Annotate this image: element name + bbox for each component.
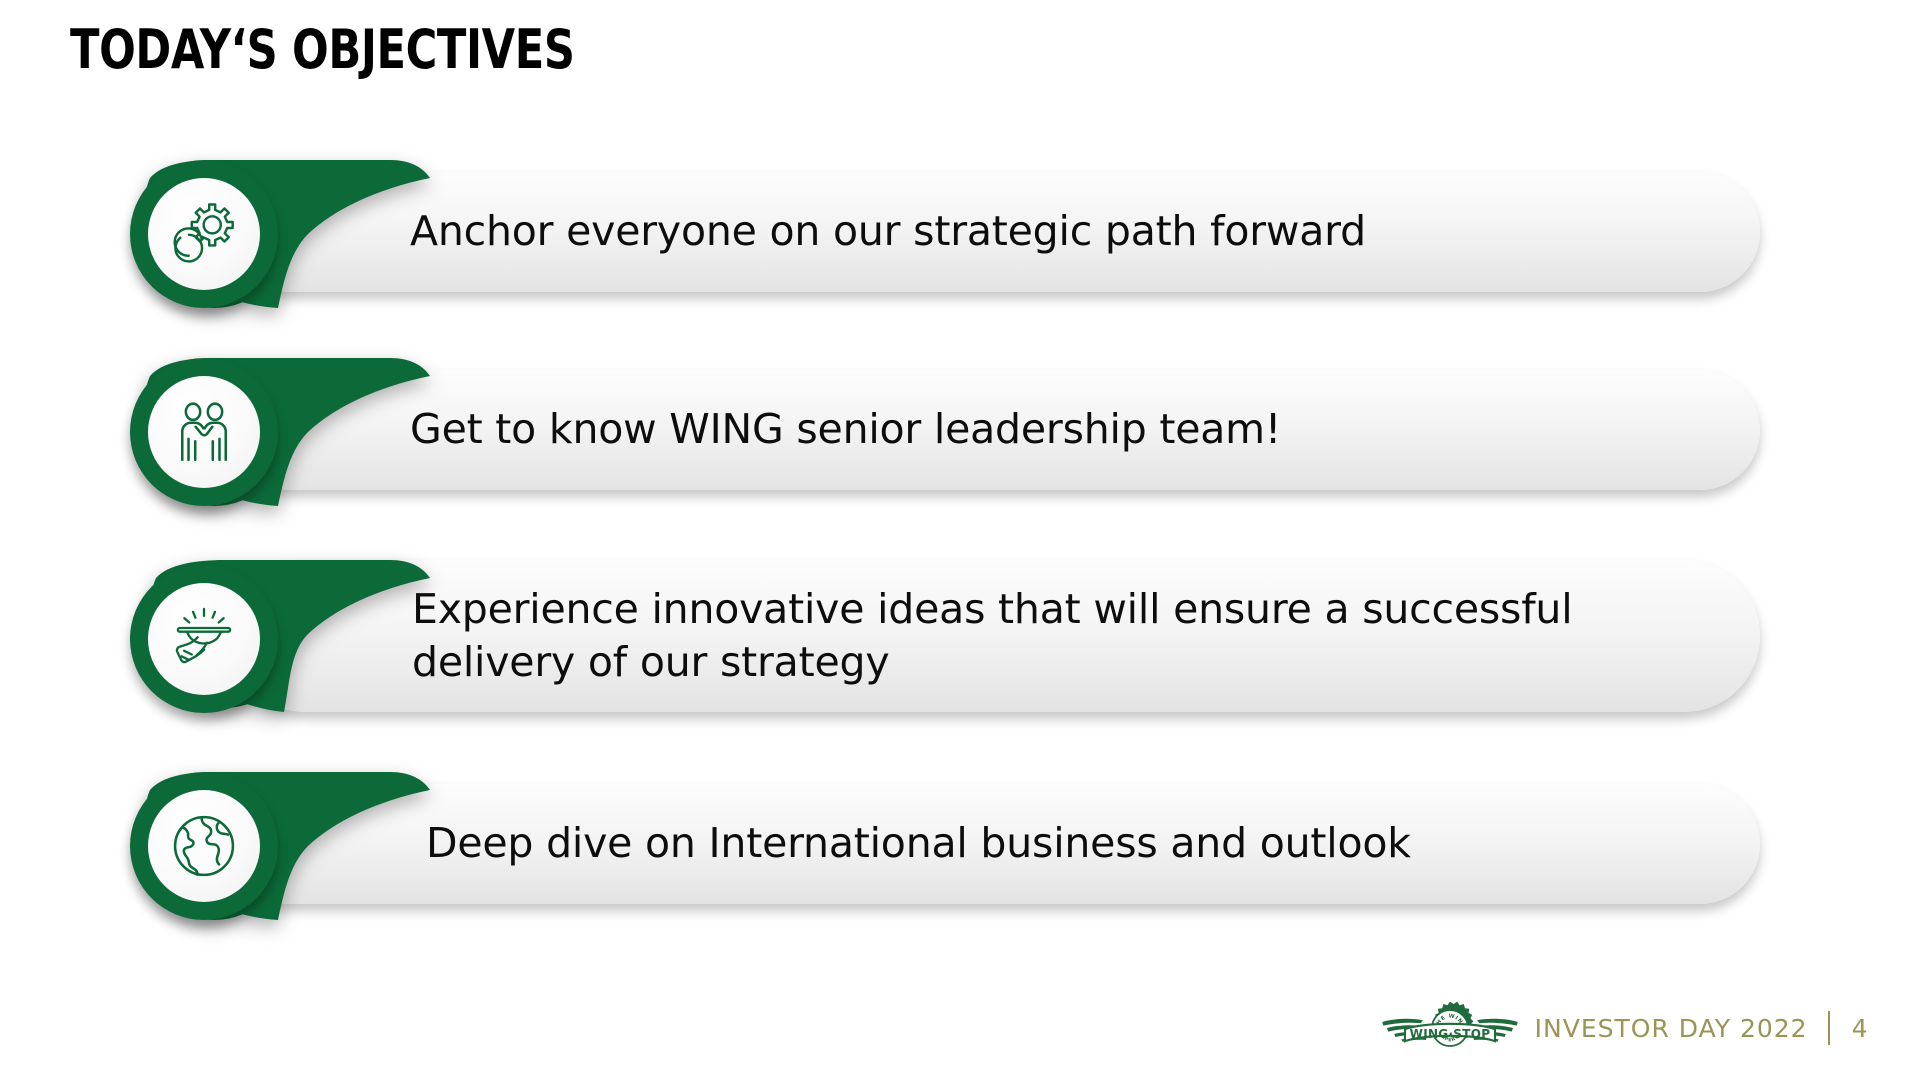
objective-row-1: Anchor everyone on our strategic path fo… (0, 150, 1920, 310)
objective-text-container-4: Deep dive on International business and … (230, 784, 1760, 904)
objective-text-4: Deep dive on International business and … (426, 784, 1670, 904)
objectives-list: Anchor everyone on our strategic path fo… (0, 150, 1920, 960)
objective-text-container-2: Get to know WING senior leadership team! (230, 370, 1760, 490)
objective-text-1: Anchor everyone on our strategic path fo… (410, 172, 1670, 292)
objective-text-3: Experience innovative ideas that will en… (412, 560, 1670, 712)
page-title: TODAY‘S OBJECTIVES (70, 22, 575, 79)
objective-text-container-3: Experience innovative ideas that will en… (230, 560, 1760, 712)
footer-divider (1828, 1011, 1830, 1045)
objective-text-2: Get to know WING senior leadership team! (410, 370, 1670, 490)
objective-row-4: Deep dive on International business and … (0, 762, 1920, 922)
svg-text:WING·STOP: WING·STOP (1409, 1027, 1490, 1041)
page-number: 4 (1852, 1014, 1868, 1043)
wingstop-logo: THE WING EXPERTS WING·STOP (1381, 998, 1519, 1058)
objective-row-2: Get to know WING senior leadership team! (0, 348, 1920, 508)
objective-text-container-1: Anchor everyone on our strategic path fo… (230, 172, 1760, 292)
objective-row-3: Experience innovative ideas that will en… (0, 546, 1920, 724)
investor-day-label: INVESTOR DAY 2022 (1535, 1014, 1808, 1043)
slide-canvas: TODAY‘S OBJECTIVES (0, 0, 1920, 1080)
slide-footer: THE WING EXPERTS WING·STOP INVESTOR DAY … (1381, 998, 1868, 1058)
